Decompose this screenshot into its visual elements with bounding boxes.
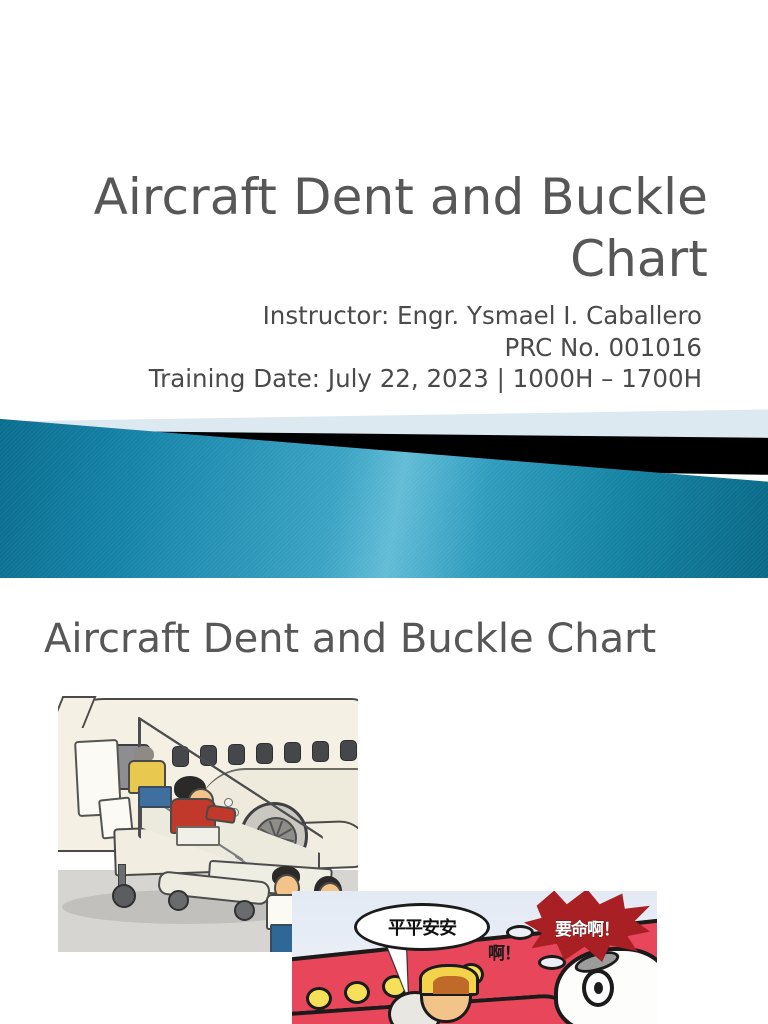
airstairs-wheel [234,900,255,921]
slide1-decorative-banner [0,406,768,578]
comic-window [344,981,370,1004]
speech-bubble-text: 平平安安 [388,914,456,940]
subtitle-line-training-date: Training Date: July 22, 2023 | 1000H – 1… [60,363,702,395]
slide-1: Aircraft Dent and Buckle Chart Instructo… [0,0,768,578]
comic-pupil [594,982,603,994]
exclamation-text: 啊！ [488,939,520,964]
passenger-legs [138,786,172,808]
comic-starburst-text: 要命啊！ [555,915,619,940]
slide2-title: Aircraft Dent and Buckle Chart [44,614,724,664]
nose-gear-wheel [112,884,136,908]
subtitle-line-instructor: Instructor: Engr. Ysmael I. Caballero [60,300,702,332]
comic-passenger-head [420,969,472,1023]
comic-motion-mark [538,955,566,970]
tail-fin [58,696,96,728]
chinese-aviation-comic: 平平安安 啊！ 要命啊！ [292,891,657,1024]
comic-window [306,987,332,1010]
comic-passenger-hair-inner [433,976,469,994]
airstairs-wheel [168,890,189,911]
cabin-window [228,744,245,765]
cabin-window [256,743,273,764]
subtitle-line-prc: PRC No. 001016 [60,332,702,364]
cabin-window [312,741,329,762]
cabin-window [284,742,301,763]
comic-eye [582,969,614,1007]
speech-bubble: 平平安安 [354,903,490,951]
slides-page: Aircraft Dent and Buckle Chart Instructo… [0,0,768,1024]
slide1-subtitle-block: Instructor: Engr. Ysmael I. Caballero PR… [60,300,702,395]
comic-motion-mark [506,925,534,940]
passenger-legs [176,826,220,846]
slide1-title: Aircraft Dent and Buckle Chart [60,166,708,290]
cabin-window [340,740,357,761]
slide-2: Aircraft Dent and Buckle Chart [0,578,768,1024]
